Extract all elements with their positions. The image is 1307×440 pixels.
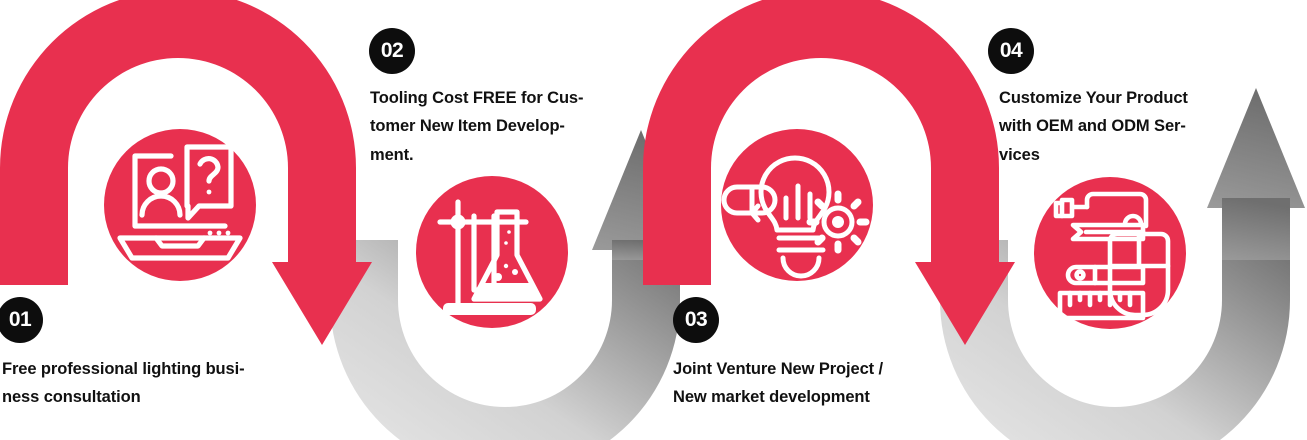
step-label-03: Joint Venture New Project / New market d… (673, 355, 943, 412)
step-label-01: Free professional lighting busi- ness co… (2, 355, 292, 412)
step-badge-03: 03 (673, 297, 719, 343)
step-label-04: Customize Your Product with OEM and ODM … (999, 84, 1229, 169)
process-infographic: 01 02 03 04 Free professional lighting b… (0, 0, 1307, 440)
step-2-icon-circle (416, 176, 568, 328)
step-1-icon-circle (104, 129, 256, 281)
step-4-icon-circle (1034, 177, 1186, 329)
step-3-icon-circle (721, 129, 873, 281)
step-label-02: Tooling Cost FREE for Cus- tomer New Ite… (370, 84, 630, 169)
step-badge-02: 02 (369, 28, 415, 74)
step-badge-04: 04 (988, 28, 1034, 74)
